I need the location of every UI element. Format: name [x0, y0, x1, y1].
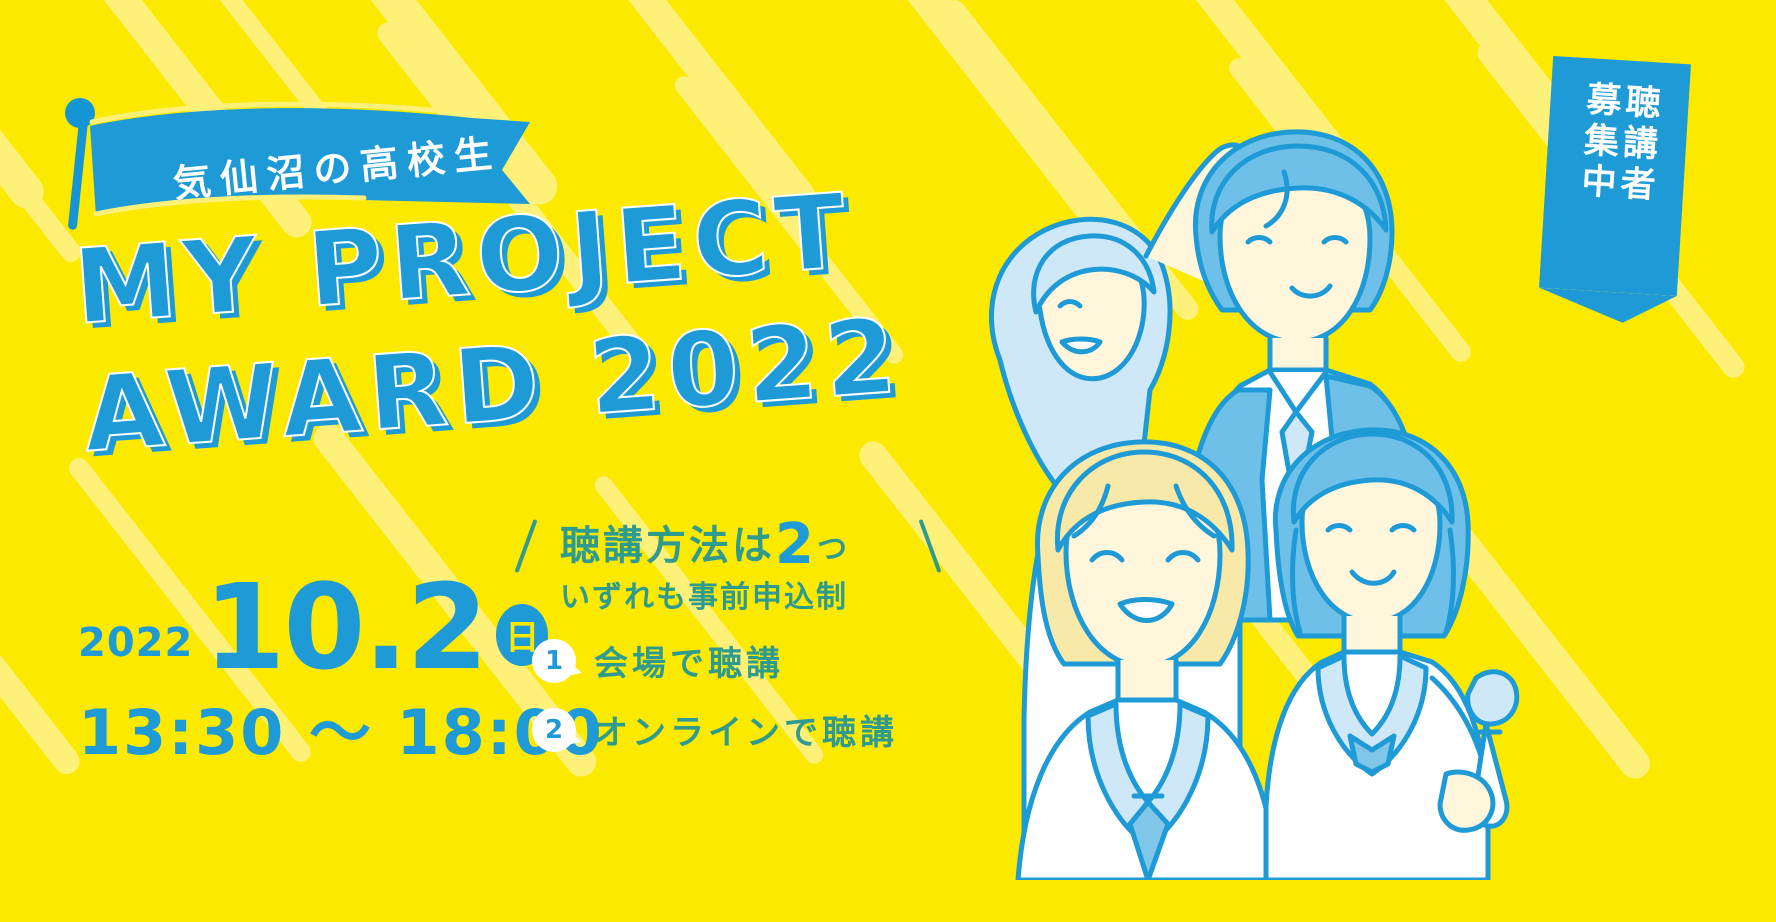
method-label: 会場で聴講	[594, 636, 784, 685]
date-row: 2022 10.2 日	[78, 576, 548, 680]
event-date-block: 2022 10.2 日 13:30 〜 18:00	[78, 576, 548, 772]
event-day: 10.2	[203, 576, 486, 680]
method-number-bubble: 1	[532, 639, 576, 683]
info-heading-suffix: つ	[817, 532, 850, 567]
slash-right-icon	[919, 519, 942, 573]
info-heading-text: 聴講方法は2つ	[560, 512, 850, 577]
method-item-2: 2 オンラインで聴講	[532, 705, 924, 754]
attendance-info-panel: 聴講方法は2つ いずれも事前申込制 1 会場で聴講 2 オンラインで聴講	[524, 508, 924, 754]
method-label: オンラインで聴講	[594, 705, 898, 754]
method-item-1: 1 会場で聴講	[532, 636, 924, 685]
event-time: 13:30 〜 18:00	[78, 682, 548, 772]
event-year: 2022	[78, 620, 193, 680]
info-subheading: いずれも事前申込制	[560, 572, 924, 616]
banner-root: 気仙沼の高校生 MY PROJECT AWARD 2022 2022 10.2 …	[0, 0, 1776, 922]
four-students-illustration	[940, 60, 1640, 880]
method-number-bubble: 2	[532, 708, 576, 752]
slash-left-icon	[515, 519, 538, 573]
info-heading-prefix: 聴講方法は	[560, 523, 775, 569]
info-heading: 聴講方法は2つ	[524, 508, 924, 570]
info-heading-count: 2	[775, 512, 817, 577]
